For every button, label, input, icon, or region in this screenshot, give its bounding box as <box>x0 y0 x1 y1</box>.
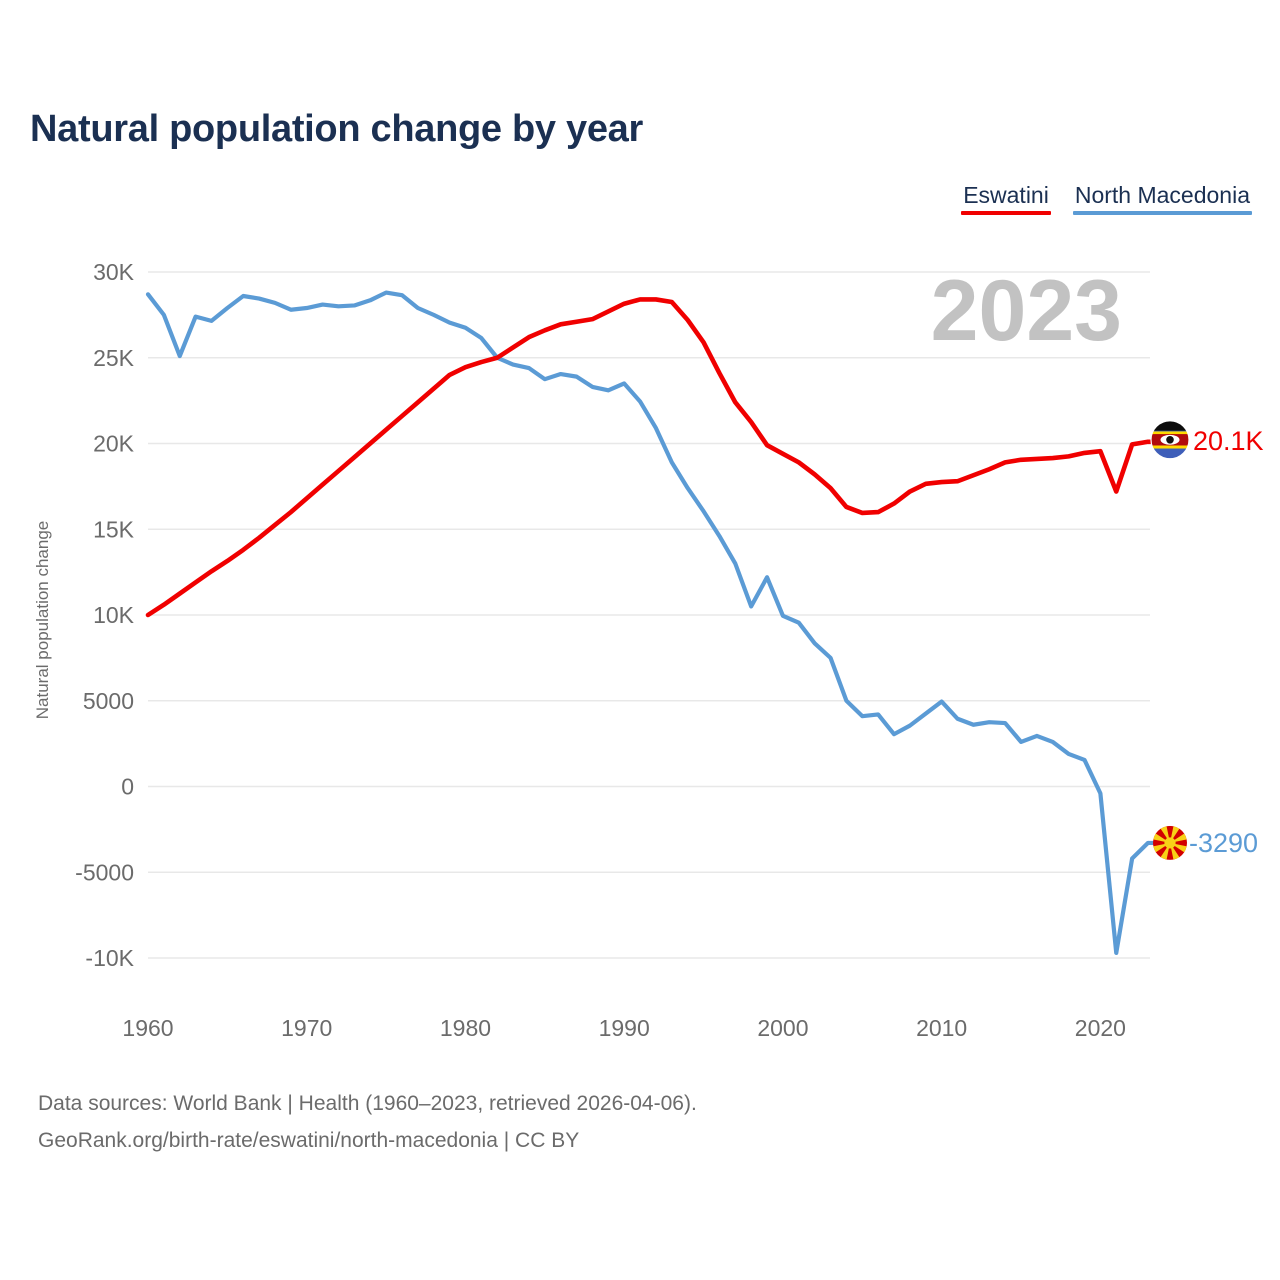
legend-rule-eswatini <box>961 211 1051 215</box>
page-title: Natural population change by year <box>30 108 643 151</box>
y-axis-title: Natural population change <box>33 521 52 719</box>
y-tick-label: 30K <box>93 259 135 285</box>
year-watermark: 2023 <box>931 263 1122 359</box>
y-tick-label: 15K <box>93 516 135 542</box>
y-tick-label: -5000 <box>75 859 134 885</box>
x-tick-label: 1990 <box>599 1015 650 1041</box>
chart-page: Natural population change by year Eswati… <box>0 0 1280 1280</box>
footer-line-sources: Data sources: World Bank | Health (1960–… <box>38 1085 697 1122</box>
footer-line-attribution[interactable]: GeoRank.org/birth-rate/eswatini/north-ma… <box>38 1122 697 1159</box>
series-line-north-macedonia <box>148 293 1148 953</box>
y-tick-label: -10K <box>85 945 134 971</box>
endpoint-label-north-macedonia: -3290 <box>1189 828 1258 858</box>
endpoint-marker-eswatini[interactable] <box>1148 421 1189 459</box>
legend-label-eswatini: Eswatini <box>961 183 1051 207</box>
chart-legend: Eswatini North Macedonia <box>961 183 1252 215</box>
endpoint-marker-north-macedonia[interactable] <box>1143 816 1196 869</box>
x-axis-ticks: 1960197019801990200020102020 <box>122 1015 1126 1041</box>
y-axis-ticks: 30K25K20K15K10K50000-5000-10K <box>75 259 134 971</box>
y-tick-label: 25K <box>93 345 135 371</box>
legend-item-north-macedonia[interactable]: North Macedonia <box>1073 183 1252 215</box>
y-tick-label: 5000 <box>83 688 134 714</box>
legend-item-eswatini[interactable]: Eswatini <box>961 183 1051 215</box>
legend-rule-north-macedonia <box>1073 211 1252 215</box>
x-tick-label: 1960 <box>122 1015 173 1041</box>
y-tick-label: 20K <box>93 431 135 457</box>
x-tick-label: 2020 <box>1075 1015 1126 1041</box>
series-line-eswatini <box>148 299 1148 615</box>
y-tick-label: 0 <box>121 774 134 800</box>
x-tick-label: 2010 <box>916 1015 967 1041</box>
gridlines <box>148 272 1150 958</box>
x-tick-label: 2000 <box>757 1015 808 1041</box>
x-tick-label: 1980 <box>440 1015 491 1041</box>
x-tick-label: 1970 <box>281 1015 332 1041</box>
footer: Data sources: World Bank | Health (1960–… <box>38 1085 697 1160</box>
endpoint-label-eswatini: 20.1K <box>1193 426 1264 456</box>
legend-label-north-macedonia: North Macedonia <box>1073 183 1252 207</box>
y-tick-label: 10K <box>93 602 135 628</box>
